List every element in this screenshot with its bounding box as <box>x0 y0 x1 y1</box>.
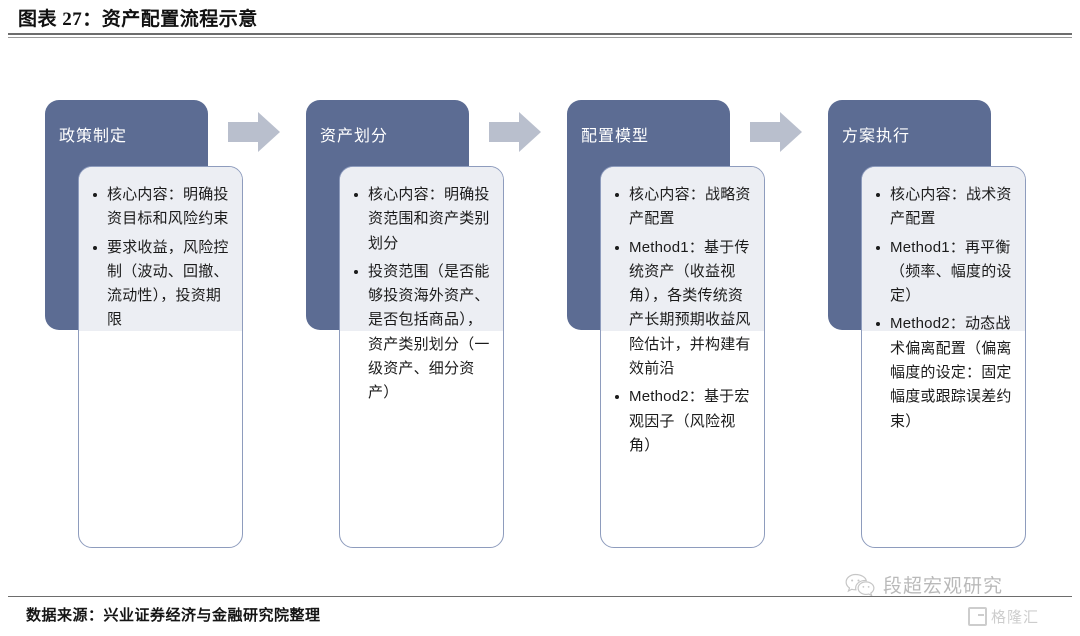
stage-bullet-list: 核心内容：明确投资目标和风险约束 要求收益，风险控制（波动、回撤、流动性），投资… <box>79 167 242 351</box>
stage-body-plan-execution: 核心内容：战术资产配置 Method1：再平衡（频率、幅度的设定） Method… <box>861 166 1026 548</box>
stage-body-policy: 核心内容：明确投资目标和风险约束 要求收益，风险控制（波动、回撤、流动性），投资… <box>78 166 243 548</box>
stage-bullet-list: 核心内容：明确投资范围和资产类别划分 投资范围（是否能够投资海外资产、是否包括商… <box>340 167 503 424</box>
right-arrow-icon <box>750 110 802 154</box>
brand-watermark: 格隆汇 <box>968 606 1039 627</box>
gelonghui-logo-icon <box>968 607 987 626</box>
wechat-icon <box>845 572 875 598</box>
footer-divider <box>8 596 1072 597</box>
right-arrow-icon <box>489 110 541 154</box>
brand-watermark-text: 格隆汇 <box>991 606 1039 627</box>
stage-header-label: 政策制定 <box>59 122 127 146</box>
stage-bullet-list: 核心内容：战术资产配置 Method1：再平衡（频率、幅度的设定） Method… <box>862 167 1025 452</box>
stage-bullet-list: 核心内容：战略资产配置 Method1：基于传统资产（收益视角），各类传统资产长… <box>601 167 764 476</box>
stage-body-asset-split: 核心内容：明确投资范围和资产类别划分 投资范围（是否能够投资海外资产、是否包括商… <box>339 166 504 548</box>
list-item: 核心内容：战略资产配置 <box>629 183 752 232</box>
stage-header-label: 配置模型 <box>581 122 649 146</box>
list-item: 核心内容：明确投资范围和资产类别划分 <box>368 183 491 256</box>
list-item: 要求收益，风险控制（波动、回撤、流动性），投资期限 <box>107 236 230 333</box>
list-item: Method2：动态战术偏离配置（偏离幅度的设定：固定幅度或跟踪误差约束） <box>890 312 1013 433</box>
list-item: 核心内容：战术资产配置 <box>890 183 1013 232</box>
list-item: Method2：基于宏观因子（风险视角） <box>629 385 752 458</box>
wechat-watermark-text: 段超宏观研究 <box>883 571 1003 598</box>
list-item: 投资范围（是否能够投资海外资产、是否包括商品），资产类别划分（一级资产、细分资产… <box>368 260 491 406</box>
flow-diagram: 政策制定 核心内容：明确投资目标和风险约束 要求收益，风险控制（波动、回撤、流动… <box>0 0 1080 636</box>
wechat-watermark: 段超宏观研究 <box>845 571 1003 598</box>
stage-header-label: 方案执行 <box>842 122 910 146</box>
stage-header-label: 资产划分 <box>320 122 388 146</box>
list-item: Method1：再平衡（频率、幅度的设定） <box>890 236 1013 309</box>
right-arrow-icon <box>228 110 280 154</box>
list-item: 核心内容：明确投资目标和风险约束 <box>107 183 230 232</box>
list-item: Method1：基于传统资产（收益视角），各类传统资产长期预期收益风险估计，并构… <box>629 236 752 382</box>
data-source-label: 数据来源：兴业证券经济与金融研究院整理 <box>26 604 321 625</box>
stage-body-allocation-model: 核心内容：战略资产配置 Method1：基于传统资产（收益视角），各类传统资产长… <box>600 166 765 548</box>
